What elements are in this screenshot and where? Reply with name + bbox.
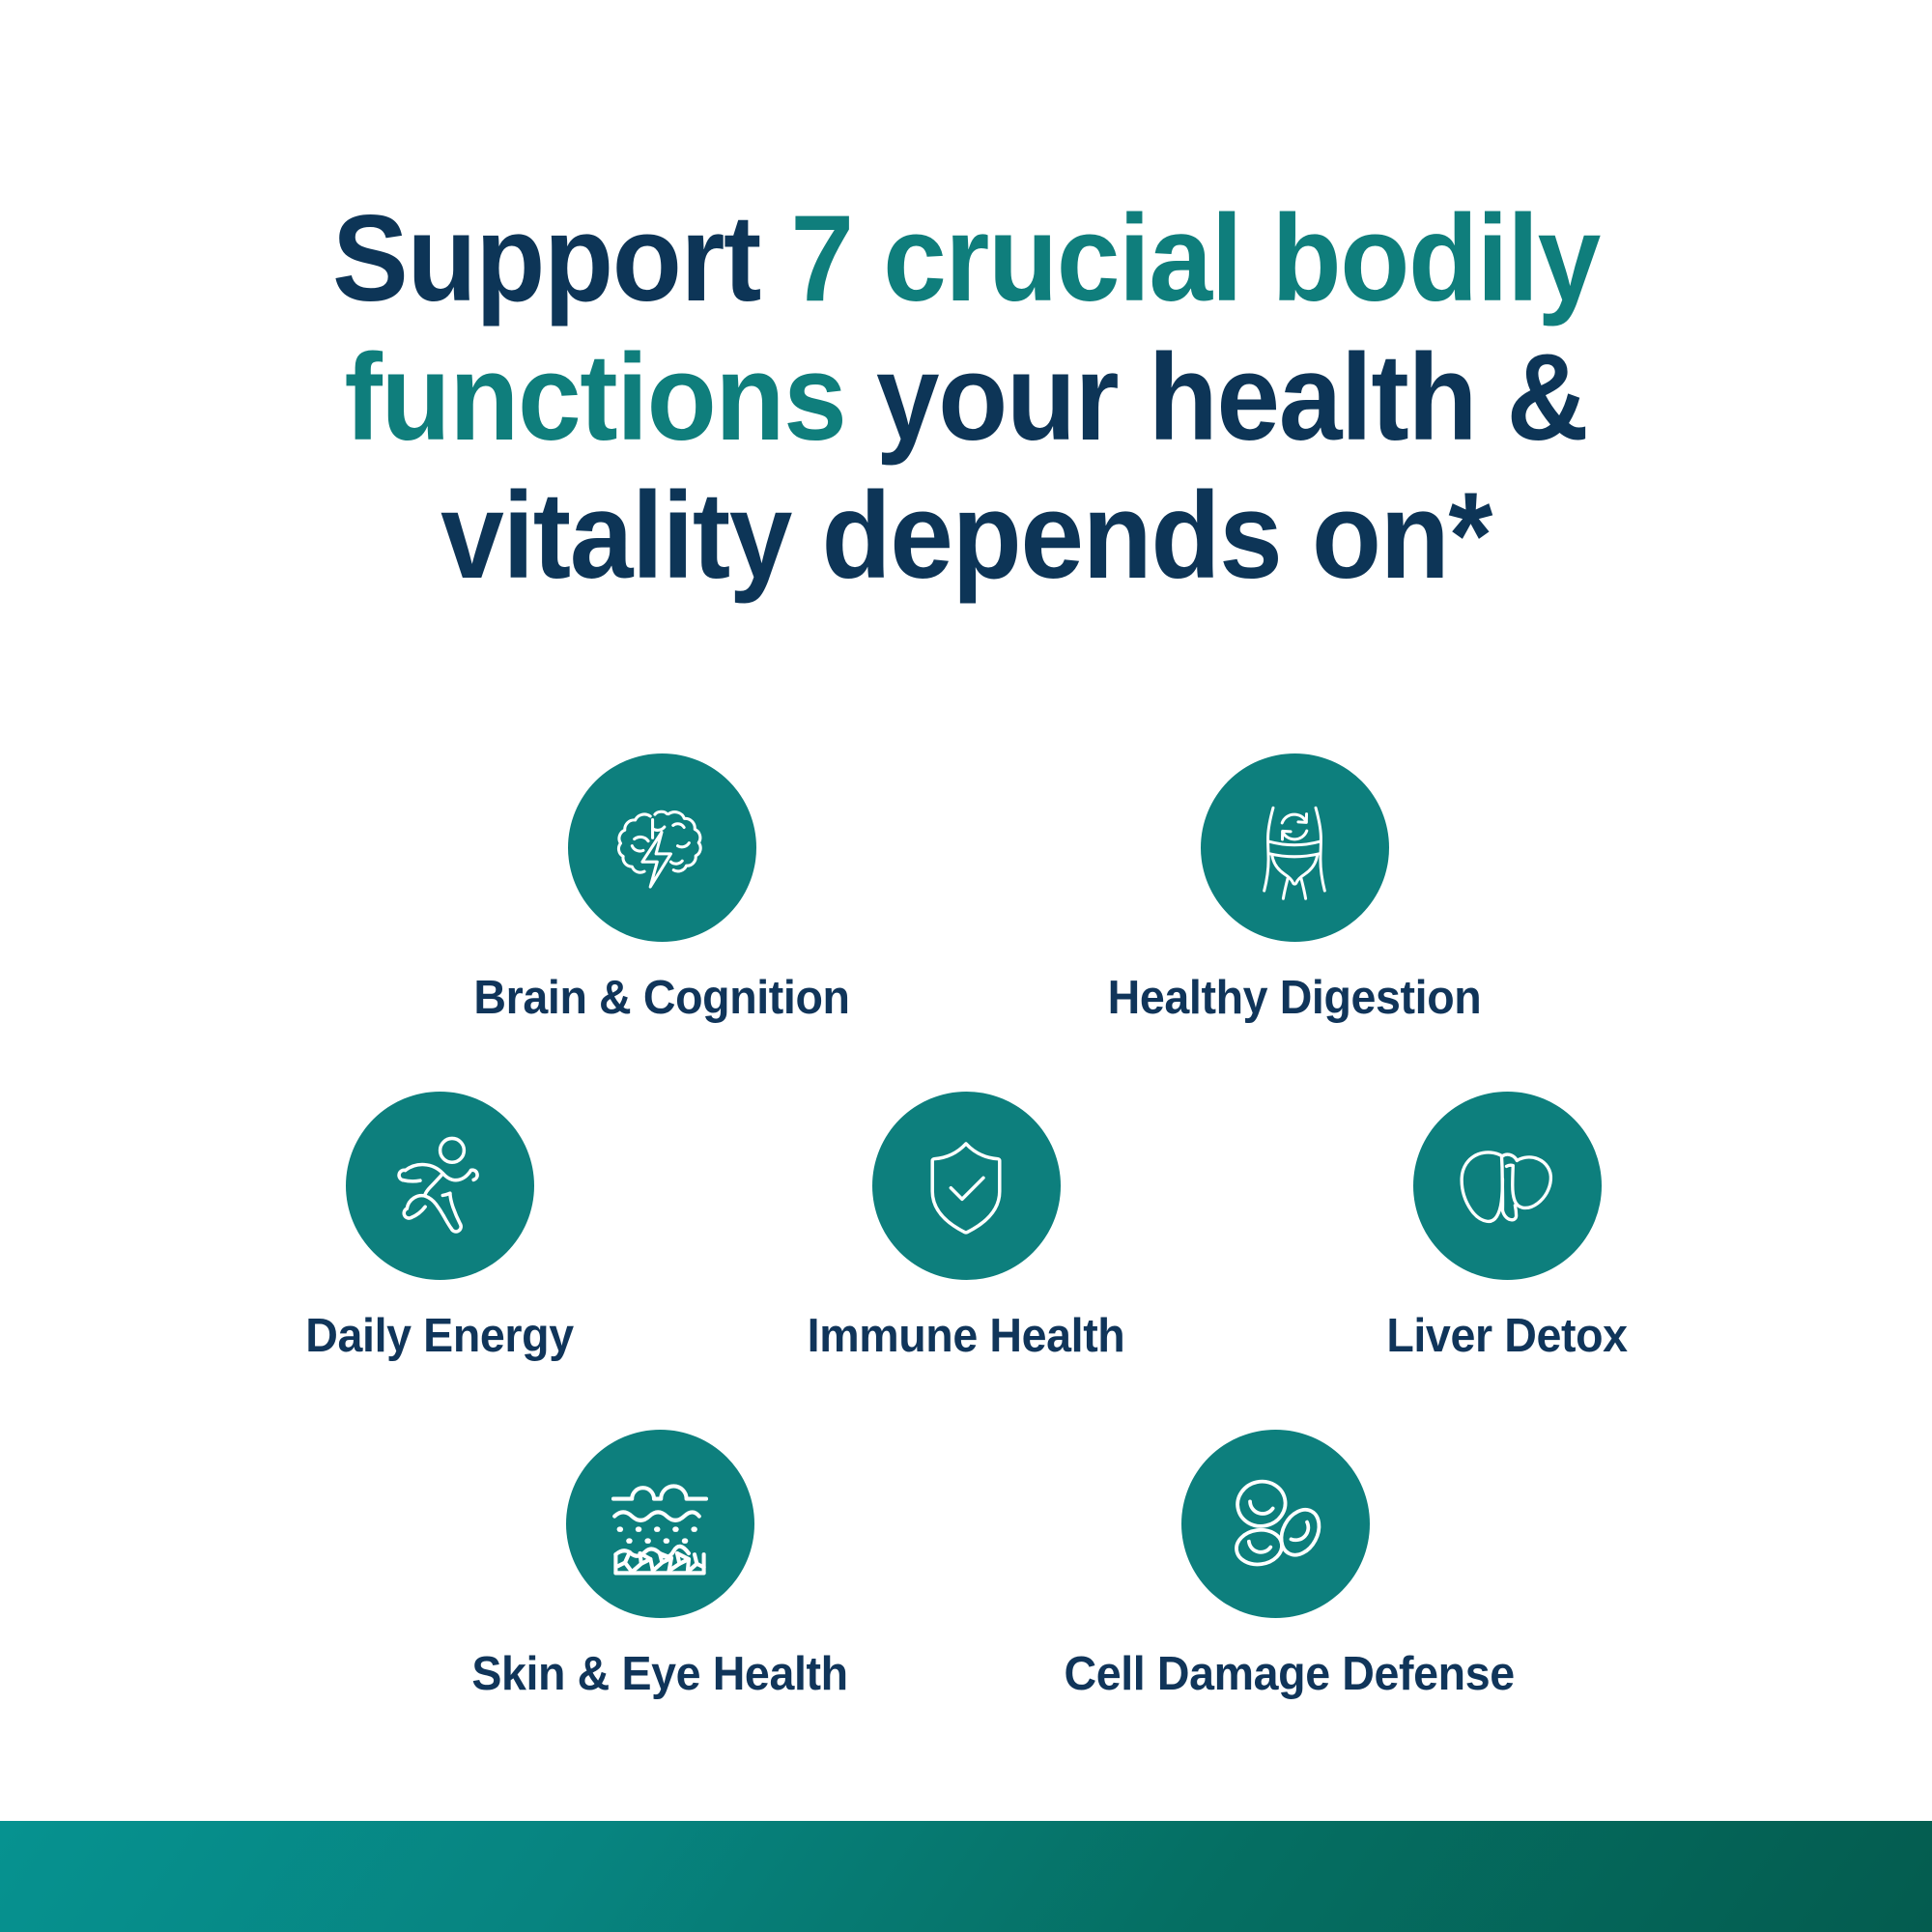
benefit-icon-circle [346, 1092, 534, 1280]
benefit-item-immune-health: Immune Health [744, 1092, 1188, 1363]
benefit-item-healthy-digestion: Healthy Digestion [1072, 753, 1517, 1025]
benefit-item-cell-damage-defense: Cell Damage Defense [1053, 1430, 1497, 1701]
shield-check-icon [910, 1130, 1022, 1242]
benefit-label: Cell Damage Defense [1065, 1647, 1487, 1701]
benefit-item-liver-detox: Liver Detox [1285, 1092, 1729, 1363]
benefit-icon-circle [566, 1430, 754, 1618]
benefit-label: Skin & Eye Health [449, 1647, 871, 1701]
benefit-label: Liver Detox [1296, 1309, 1719, 1363]
liver-icon [1449, 1128, 1565, 1244]
benefit-icon-circle [1181, 1430, 1370, 1618]
benefit-icon-circle [872, 1092, 1061, 1280]
benefit-item-daily-energy: Daily Energy [217, 1092, 662, 1363]
benefit-label: Daily Energy [229, 1309, 651, 1363]
benefit-icon-circle [568, 753, 756, 942]
benefits-grid: Brain & Cognition Healthy Digestion [0, 0, 1932, 1932]
benefit-icon-circle [1413, 1092, 1602, 1280]
torso-refresh-icon [1238, 792, 1350, 904]
benefit-label: Immune Health [755, 1309, 1178, 1363]
benefit-item-brain-cognition: Brain & Cognition [440, 753, 884, 1025]
running-person-icon [383, 1129, 497, 1243]
brain-lightning-icon [605, 791, 719, 905]
benefit-icon-circle [1201, 753, 1389, 942]
blood-cells-icon [1218, 1467, 1332, 1581]
benefit-label: Brain & Cognition [451, 971, 873, 1025]
skin-layers-icon [602, 1466, 718, 1582]
benefit-item-skin-eye-health: Skin & Eye Health [438, 1430, 882, 1701]
benefit-label: Healthy Digestion [1084, 971, 1506, 1025]
bottom-accent-bar [0, 1821, 1932, 1932]
